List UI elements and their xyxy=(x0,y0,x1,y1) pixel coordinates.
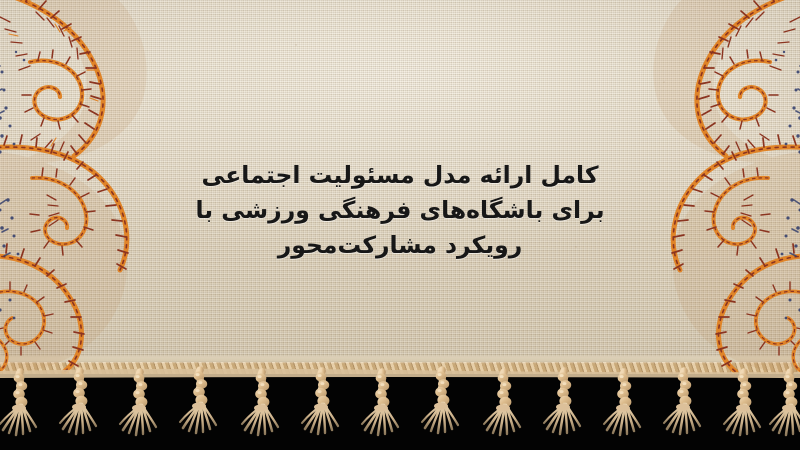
title-line-1: کامل ارائه مدل مسئولیت اجتماعی xyxy=(0,158,800,193)
slide-canvas: کامل ارائه مدل مسئولیت اجتماعی برای باشگ… xyxy=(0,0,800,450)
tassel-fringe xyxy=(0,366,800,450)
slide-title: کامل ارائه مدل مسئولیت اجتماعی برای باشگ… xyxy=(0,158,800,263)
title-line-3: رویکرد مشارکت‌محور xyxy=(0,228,800,263)
title-line-2: برای باشگاه‌های فرهنگی ورزشی با xyxy=(0,193,800,228)
